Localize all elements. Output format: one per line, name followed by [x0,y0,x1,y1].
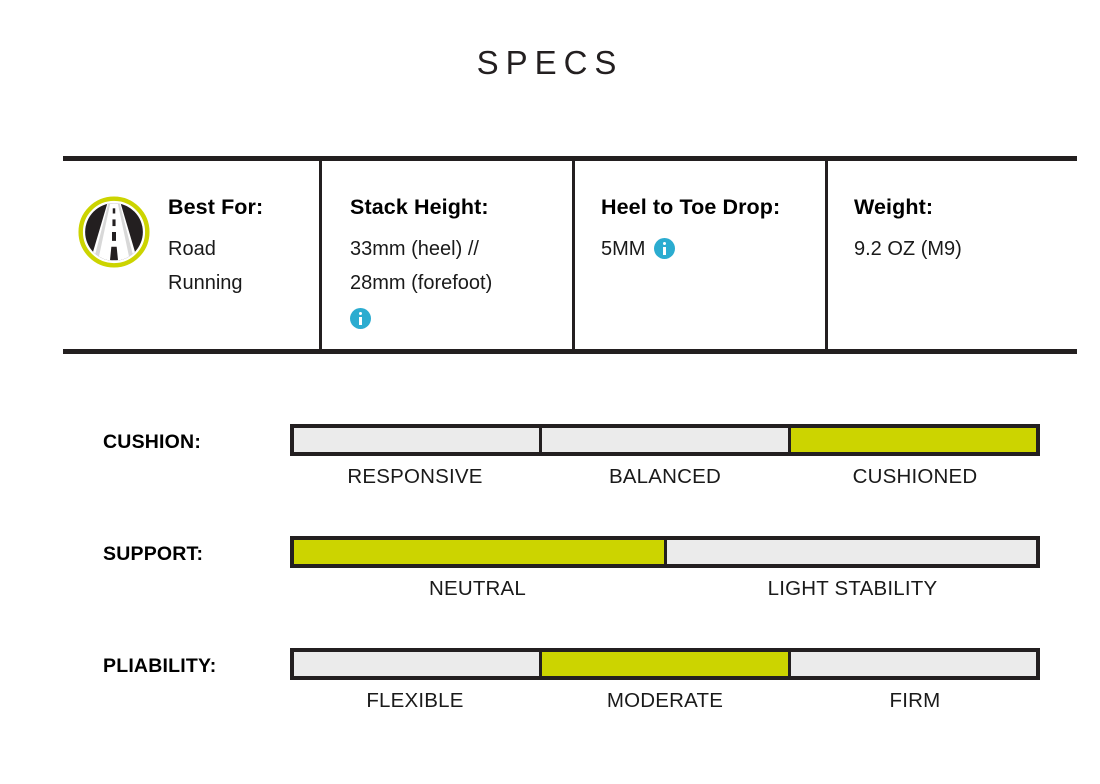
rating-bar [290,648,1040,680]
rating-bar [290,424,1040,456]
rating-bar-label: MODERATE [540,689,790,713]
rating-bars: CUSHION: RESPONSIVE BALANCED CUSHIONED S… [0,412,1100,748]
rating-label: PLIABILITY: [103,655,216,678]
spec-table: Best For: Road Running Stack Height: 33m… [63,156,1077,354]
rating-bar-segment-active[interactable] [294,540,664,564]
info-icon[interactable] [350,308,371,329]
spec-cell-weight: Weight: 9.2 OZ (M9) [825,161,1077,349]
rating-bar-labels: FLEXIBLE MODERATE FIRM [290,689,1040,713]
rating-bar-segment[interactable] [294,428,539,452]
rating-bar-label: FLEXIBLE [290,689,540,713]
rating-bar-wrap: FLEXIBLE MODERATE FIRM [290,648,1040,713]
spec-value-line: 28mm (forefoot) [350,266,492,300]
rating-label: CUSHION: [103,431,201,454]
rating-bar-label: NEUTRAL [290,577,665,601]
spec-value-text: 5MM [601,232,645,266]
page-title: SPECS [0,44,1100,82]
spec-value-line: Road [168,232,263,266]
rating-bar-segment-active[interactable] [539,652,787,676]
rating-row-cushion: CUSHION: RESPONSIVE BALANCED CUSHIONED [0,412,1100,524]
spec-value-line: 5MM [601,232,780,266]
rating-bar-label: LIGHT STABILITY [665,577,1040,601]
spec-text-heel-to-toe-drop: Heel to Toe Drop: 5MM [601,197,780,266]
rating-bar-label: BALANCED [540,465,790,489]
spec-text-weight: Weight: 9.2 OZ (M9) [854,197,962,266]
road-icon [77,195,151,269]
spec-text-best-for: Best For: Road Running [168,197,263,300]
rating-bar-label: FIRM [790,689,1040,713]
rating-bar-wrap: NEUTRAL LIGHT STABILITY [290,536,1040,601]
spec-value-line: 33mm (heel) // [350,232,492,266]
spec-heading: Weight: [854,197,962,219]
rating-bar-labels: NEUTRAL LIGHT STABILITY [290,577,1040,601]
spec-cell-heel-to-toe-drop: Heel to Toe Drop: 5MM [572,161,825,349]
rating-label: SUPPORT: [103,543,203,566]
rating-row-pliability: PLIABILITY: FLEXIBLE MODERATE FIRM [0,636,1100,748]
rating-bar-segment[interactable] [539,428,787,452]
info-block [350,308,492,329]
rating-bar-segment[interactable] [294,652,539,676]
rating-bar [290,536,1040,568]
spec-heading: Heel to Toe Drop: [601,197,780,219]
rating-bar-wrap: RESPONSIVE BALANCED CUSHIONED [290,424,1040,489]
rating-bar-segment[interactable] [788,652,1036,676]
rating-bar-label: CUSHIONED [790,465,1040,489]
rating-bar-segment[interactable] [664,540,1037,564]
spec-text-stack-height: Stack Height: 33mm (heel) // 28mm (foref… [350,197,492,329]
spec-value-line: Running [168,266,263,300]
info-icon[interactable] [654,238,675,259]
spec-heading: Stack Height: [350,197,492,219]
spec-cell-stack-height: Stack Height: 33mm (heel) // 28mm (foref… [319,161,572,349]
rating-bar-labels: RESPONSIVE BALANCED CUSHIONED [290,465,1040,489]
spec-value-line: 9.2 OZ (M9) [854,232,962,266]
rating-bar-label: RESPONSIVE [290,465,540,489]
rating-bar-segment-active[interactable] [788,428,1036,452]
rating-row-support: SUPPORT: NEUTRAL LIGHT STABILITY [0,524,1100,636]
spec-cell-best-for: Best For: Road Running [63,161,319,349]
spec-heading: Best For: [168,197,263,219]
